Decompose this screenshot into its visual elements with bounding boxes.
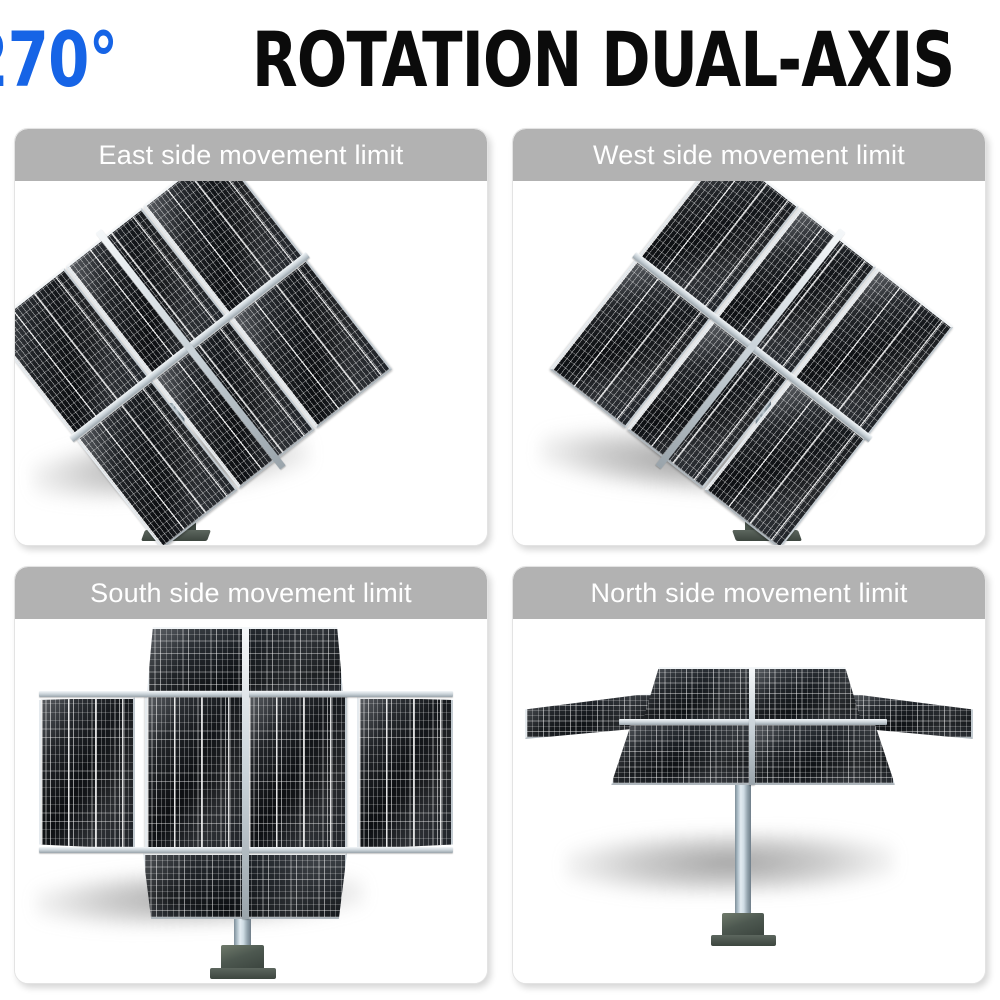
- card-east-header: East side movement limit: [15, 129, 487, 181]
- card-north-title: North side movement limit: [590, 578, 907, 608]
- array-rail: [242, 627, 249, 919]
- card-east[interactable]: East side movement limit: [14, 128, 488, 546]
- pv-array-south: [33, 625, 473, 885]
- card-grid: East side movement limit: [14, 128, 986, 984]
- pv-module: [357, 697, 453, 849]
- ground-shadow-north: [564, 828, 895, 898]
- pv-module: [641, 667, 753, 727]
- product-infographic: 270° ROTATION DUAL-AXIS East side moveme…: [0, 0, 1000, 1000]
- pv-array-north: [523, 649, 973, 809]
- card-north[interactable]: North side movement limit: [512, 566, 986, 984]
- tracker-illustration-west: [513, 181, 985, 545]
- card-west-body: [513, 181, 985, 545]
- page-title: 270° ROTATION DUAL-AXIS: [0, 18, 1000, 102]
- pv-module: [145, 695, 245, 851]
- pv-array-west: [540, 181, 961, 545]
- pv-module: [247, 695, 347, 851]
- card-north-header: North side movement limit: [513, 567, 985, 619]
- card-east-body: [15, 181, 487, 545]
- tracker-illustration-north: [513, 619, 985, 983]
- pv-array-east: [15, 181, 402, 545]
- card-east-title: East side movement limit: [99, 140, 404, 170]
- card-west[interactable]: West side movement limit: [512, 128, 986, 546]
- card-north-body: [513, 619, 985, 983]
- card-south[interactable]: South side movement limit: [14, 566, 488, 984]
- tracker-illustration-south: [15, 619, 487, 983]
- title-main-text: ROTATION DUAL-AXIS: [252, 22, 954, 98]
- card-south-header: South side movement limit: [15, 567, 487, 619]
- pv-module: [749, 723, 895, 785]
- card-south-title: South side movement limit: [90, 578, 412, 608]
- array-rail: [749, 667, 755, 785]
- card-west-title: West side movement limit: [593, 140, 905, 170]
- pv-module: [751, 667, 863, 727]
- card-west-header: West side movement limit: [513, 129, 985, 181]
- pv-module: [39, 697, 135, 849]
- card-south-body: [15, 619, 487, 983]
- pv-module: [611, 723, 757, 785]
- tracker-illustration-east: [15, 181, 487, 545]
- title-degrees: 270°: [0, 22, 118, 98]
